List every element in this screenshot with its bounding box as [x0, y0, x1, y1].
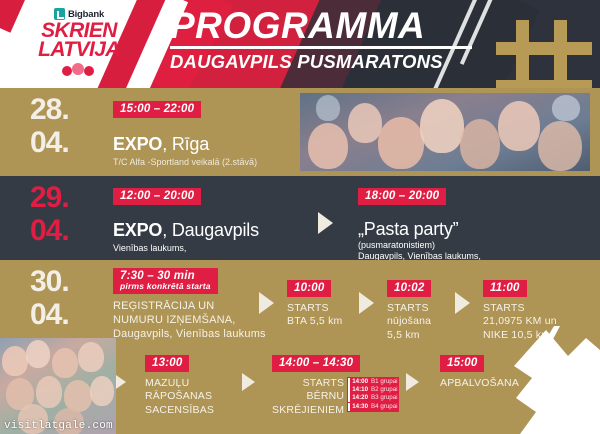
time-badge-note: pirms konkrētā starta: [120, 282, 211, 291]
slot-start-nujosana: 10:02 STARTS nūjošana 5,5 km: [387, 278, 431, 342]
time-badge: 15:00: [440, 355, 484, 372]
slot-kids-run: 14:00 – 14:30 STARTS BĒRNU SKRĒJIENIEM 1…: [272, 353, 399, 417]
event-title: EXPO, Daugavpils: [113, 221, 259, 240]
page-subtitle: DAUGAVPILS PUSMARATONS: [170, 51, 472, 73]
slot-label: STARTS BĒRNU SKRĒJIENIEM: [272, 377, 344, 417]
day-row-30-04: 30. 04. 7:30 – 30 min pirms konkrētā sta…: [0, 260, 600, 434]
brand-logo: Bigbank SKRIEN LATVIJA: [27, 8, 131, 76]
slot-registration: 7:30 – 30 min pirms konkrētā starta REĢI…: [113, 268, 266, 341]
event-note: (pusmaratonistiem): [358, 240, 481, 251]
poster-header: Bigbank SKRIEN LATVIJA PROGRAMMA DAUGAVP…: [0, 0, 600, 88]
corner-ornament-icon: [480, 326, 600, 434]
event-location: Vienības laukums,: [113, 243, 259, 254]
time-badge: 7:30 – 30 min pirms konkrētā starta: [113, 268, 218, 294]
flow-arrow-icon: [318, 212, 333, 234]
event-29-pasta-party: 18:00 – 20:00 „Pasta party” (pusmaratoni…: [358, 186, 481, 261]
slot-start-bta: 10:00 STARTS BTA 5,5 km: [287, 278, 343, 329]
table-row: 14:00 B1 grupai: [348, 378, 397, 386]
time-badge: 12:00 – 20:00: [113, 188, 201, 205]
day-30-month: 04.: [30, 301, 69, 329]
slot-baby-crawl-race: 13:00 MAZUĻU RĀPOŠANAS SACENSĪBAS: [145, 353, 214, 417]
title-divider: [170, 46, 472, 49]
photo-kids-hands: [300, 93, 590, 171]
slot-label: STARTS nūjošana 5,5 km: [387, 302, 431, 342]
site-watermark: visitlatgale.com: [4, 420, 113, 432]
time-badge: 10:02: [387, 280, 431, 297]
table-row: 14:30 B4 grupai: [348, 403, 397, 411]
day-30-number: 30.: [30, 268, 69, 296]
hashtag-ornament-icon: [496, 20, 592, 88]
time-badge: 11:00: [483, 280, 527, 297]
time-badge: 15:00 – 22:00: [113, 101, 201, 118]
day-row-29-04: 29. 04. 12:00 – 20:00 EXPO, Daugavpils V…: [0, 176, 600, 260]
poster-root: Bigbank SKRIEN LATVIJA PROGRAMMA DAUGAVP…: [0, 0, 600, 434]
event-title: EXPO, Rīga: [113, 135, 257, 154]
event-29-expo-daugavpils: 12:00 – 20:00 EXPO, Daugavpils Vienības …: [113, 186, 259, 254]
table-row: 14:10 B2 grupai: [348, 386, 397, 394]
slot-label: REĢISTRĀCIJA UN NUMURU IZŅEMŠANA, Daugav…: [113, 299, 266, 341]
time-badge: 10:00: [287, 280, 331, 297]
flow-arrow-icon: [259, 292, 274, 314]
brand-line-2: LATVIJA: [27, 40, 131, 59]
day-28-month: 04.: [30, 129, 69, 157]
flow-arrow-icon: [455, 292, 470, 314]
page-title: PROGRAMMA: [170, 8, 472, 44]
flow-arrow-icon: [242, 373, 255, 391]
title-block: PROGRAMMA DAUGAVPILS PUSMARATONS: [170, 8, 472, 73]
flow-arrow-icon: [359, 292, 374, 314]
kids-group-times-table: 14:00 B1 grupai 14:10 B2 grupai 14:20 B3…: [347, 377, 398, 412]
day-29-month: 04.: [30, 217, 69, 245]
time-badge: 14:00 – 14:30: [272, 355, 360, 372]
slot-label: MAZUĻU RĀPOŠANAS SACENSĪBAS: [145, 377, 214, 417]
day-29-number: 29.: [30, 184, 69, 212]
running-figures-icon: [62, 62, 96, 76]
photo-crowd-kids: visitlatgale.com: [0, 338, 116, 434]
flow-arrow-icon: [406, 373, 419, 391]
slot-label: STARTS BTA 5,5 km: [287, 302, 343, 329]
bigbank-logo-icon: [54, 8, 65, 20]
event-28-expo-riga: 15:00 – 22:00 EXPO, Rīga T/C Alfa -Sport…: [113, 99, 257, 168]
time-badge: 18:00 – 20:00: [358, 188, 446, 205]
sponsor-name: Bigbank: [68, 9, 104, 20]
day-row-28-04: 28. 04. 15:00 – 22:00 EXPO, Rīga T/C Alf…: [0, 88, 600, 176]
day-28-number: 28.: [30, 96, 69, 124]
event-title: „Pasta party”: [358, 220, 481, 239]
time-badge: 13:00: [145, 355, 189, 372]
table-row: 14:20 B3 grupai: [348, 394, 397, 402]
event-location: T/C Alfa -Sportland veikalā (2.stāvā): [113, 157, 257, 168]
